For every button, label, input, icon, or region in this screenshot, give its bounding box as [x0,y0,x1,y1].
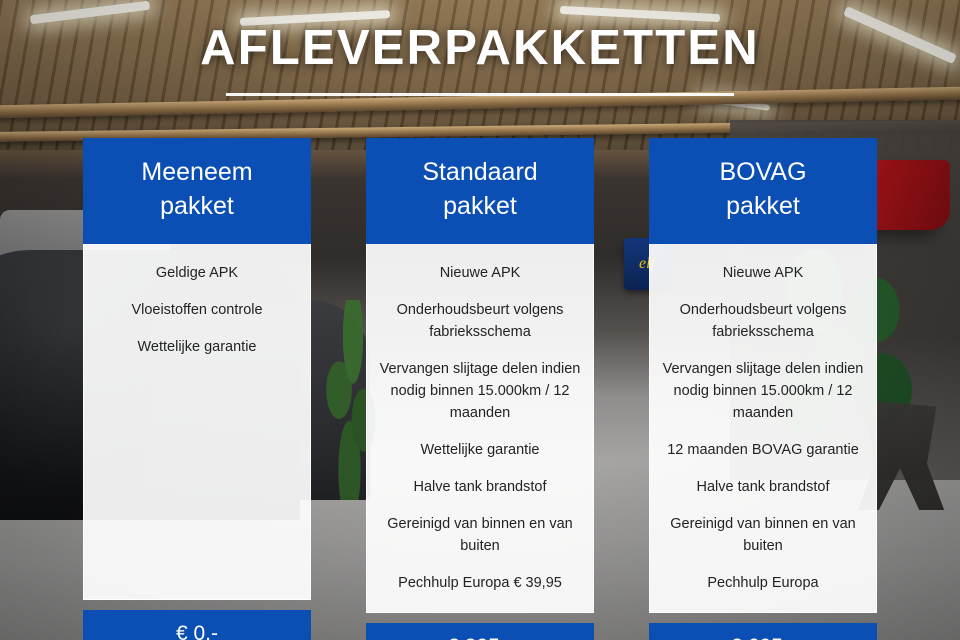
list-item: 12 maanden BOVAG garantie [662,439,864,461]
package-name-line1: BOVAG [659,156,867,190]
package-card-header: Meeneem pakket [83,138,311,244]
package-card-meeneem[interactable]: Meeneem pakket Geldige APK Vloeistoffen … [83,138,311,640]
list-item: Halve tank brandstof [662,476,864,498]
list-item: Pechhulp Europa € 39,95 [379,572,581,594]
package-price: € 0,- [83,610,311,640]
package-name-line2: pakket [93,190,301,224]
promo-banner: elf AFLEVERPAKKETTEN Meeneem pakket Geld… [0,0,960,640]
package-card-standaard[interactable]: Standaard pakket Nieuwe APK Onderhoudsbe… [366,138,594,640]
banner-title-block: AFLEVERPAKKETTEN [0,20,960,96]
package-name-line1: Meeneem [93,156,301,190]
package-name-line1: Standaard [376,156,584,190]
page-title: AFLEVERPAKKETTEN [0,20,960,76]
package-feature-list: Nieuwe APK Onderhoudsbeurt volgens fabri… [366,244,594,613]
package-cards: Meeneem pakket Geldige APK Vloeistoffen … [0,138,960,640]
package-card-header: BOVAG pakket [649,138,877,244]
package-name-line2: pakket [376,190,584,224]
package-card-header: Standaard pakket [366,138,594,244]
list-item: Pechhulp Europa [662,572,864,594]
list-item: Gereinigd van binnen en van buiten [379,513,581,557]
list-item: Vervangen slijtage delen indien nodig bi… [662,358,864,424]
package-card-bovag[interactable]: BOVAG pakket Nieuwe APK Onderhoudsbeurt … [649,138,877,640]
list-item: Wettelijke garantie [96,336,298,358]
list-item: Onderhoudsbeurt volgens fabrieksschema [379,299,581,343]
list-item: Nieuwe APK [379,262,581,284]
list-item: Vloeistoffen controle [96,299,298,321]
list-item: Nieuwe APK [662,262,864,284]
list-item: Geldige APK [96,262,298,284]
list-spacer [96,373,298,581]
list-item: Vervangen slijtage delen indien nodig bi… [379,358,581,424]
list-item: Gereinigd van binnen en van buiten [662,513,864,557]
package-feature-list: Geldige APK Vloeistoffen controle Wettel… [83,244,311,600]
title-divider [226,93,734,96]
package-price: € 695,- [649,623,877,640]
list-item: Wettelijke garantie [379,439,581,461]
list-item: Halve tank brandstof [379,476,581,498]
package-price: € 395,- [366,623,594,640]
package-feature-list: Nieuwe APK Onderhoudsbeurt volgens fabri… [649,244,877,613]
package-name-line2: pakket [659,190,867,224]
list-item: Onderhoudsbeurt volgens fabrieksschema [662,299,864,343]
